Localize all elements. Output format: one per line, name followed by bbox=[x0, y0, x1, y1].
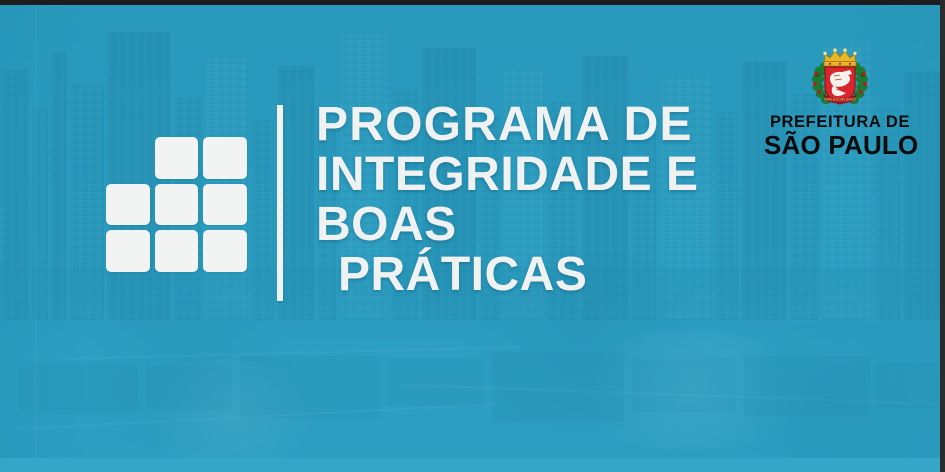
top-edge-border bbox=[0, 0, 945, 5]
logo-tile-4 bbox=[106, 184, 150, 226]
logo-tile-5 bbox=[155, 184, 199, 226]
program-title-line-4: PRÁTICAS bbox=[316, 250, 786, 300]
integrity-program-grid-logo bbox=[106, 137, 247, 272]
logo-tile-3 bbox=[203, 137, 247, 179]
program-title: PROGRAMA DE INTEGRIDADE E BOAS PRÁTICAS bbox=[316, 100, 786, 300]
program-title-line-3: BOAS bbox=[316, 200, 786, 250]
vertical-divider bbox=[277, 105, 283, 301]
left-seam bbox=[35, 0, 36, 472]
logo-tile-1 bbox=[106, 137, 150, 179]
logo-tile-9 bbox=[203, 230, 247, 272]
prefeitura-sao-paulo-logo: NON DVCOR DVCO PREFEITURA DE SÃO PAULO bbox=[764, 45, 916, 159]
sao-paulo-label: SÃO PAULO bbox=[764, 131, 916, 159]
logo-tile-6 bbox=[203, 184, 247, 226]
sao-paulo-coat-of-arms-icon: NON DVCOR DVCO bbox=[809, 45, 871, 109]
program-banner: PROGRAMA DE INTEGRIDADE E BOAS PRÁTICAS bbox=[0, 0, 945, 472]
logo-tile-7 bbox=[106, 230, 150, 272]
svg-text:NON DVCOR DVCO: NON DVCOR DVCO bbox=[824, 98, 856, 102]
program-title-line-2: INTEGRIDADE E bbox=[316, 150, 786, 200]
right-edge-border bbox=[940, 0, 945, 472]
logo-tile-8 bbox=[155, 230, 199, 272]
program-title-line-1: PROGRAMA DE bbox=[316, 100, 786, 150]
prefeitura-label: PREFEITURA DE bbox=[764, 113, 916, 131]
logo-tile-2 bbox=[155, 137, 199, 179]
bottom-edge-strip bbox=[0, 458, 945, 472]
